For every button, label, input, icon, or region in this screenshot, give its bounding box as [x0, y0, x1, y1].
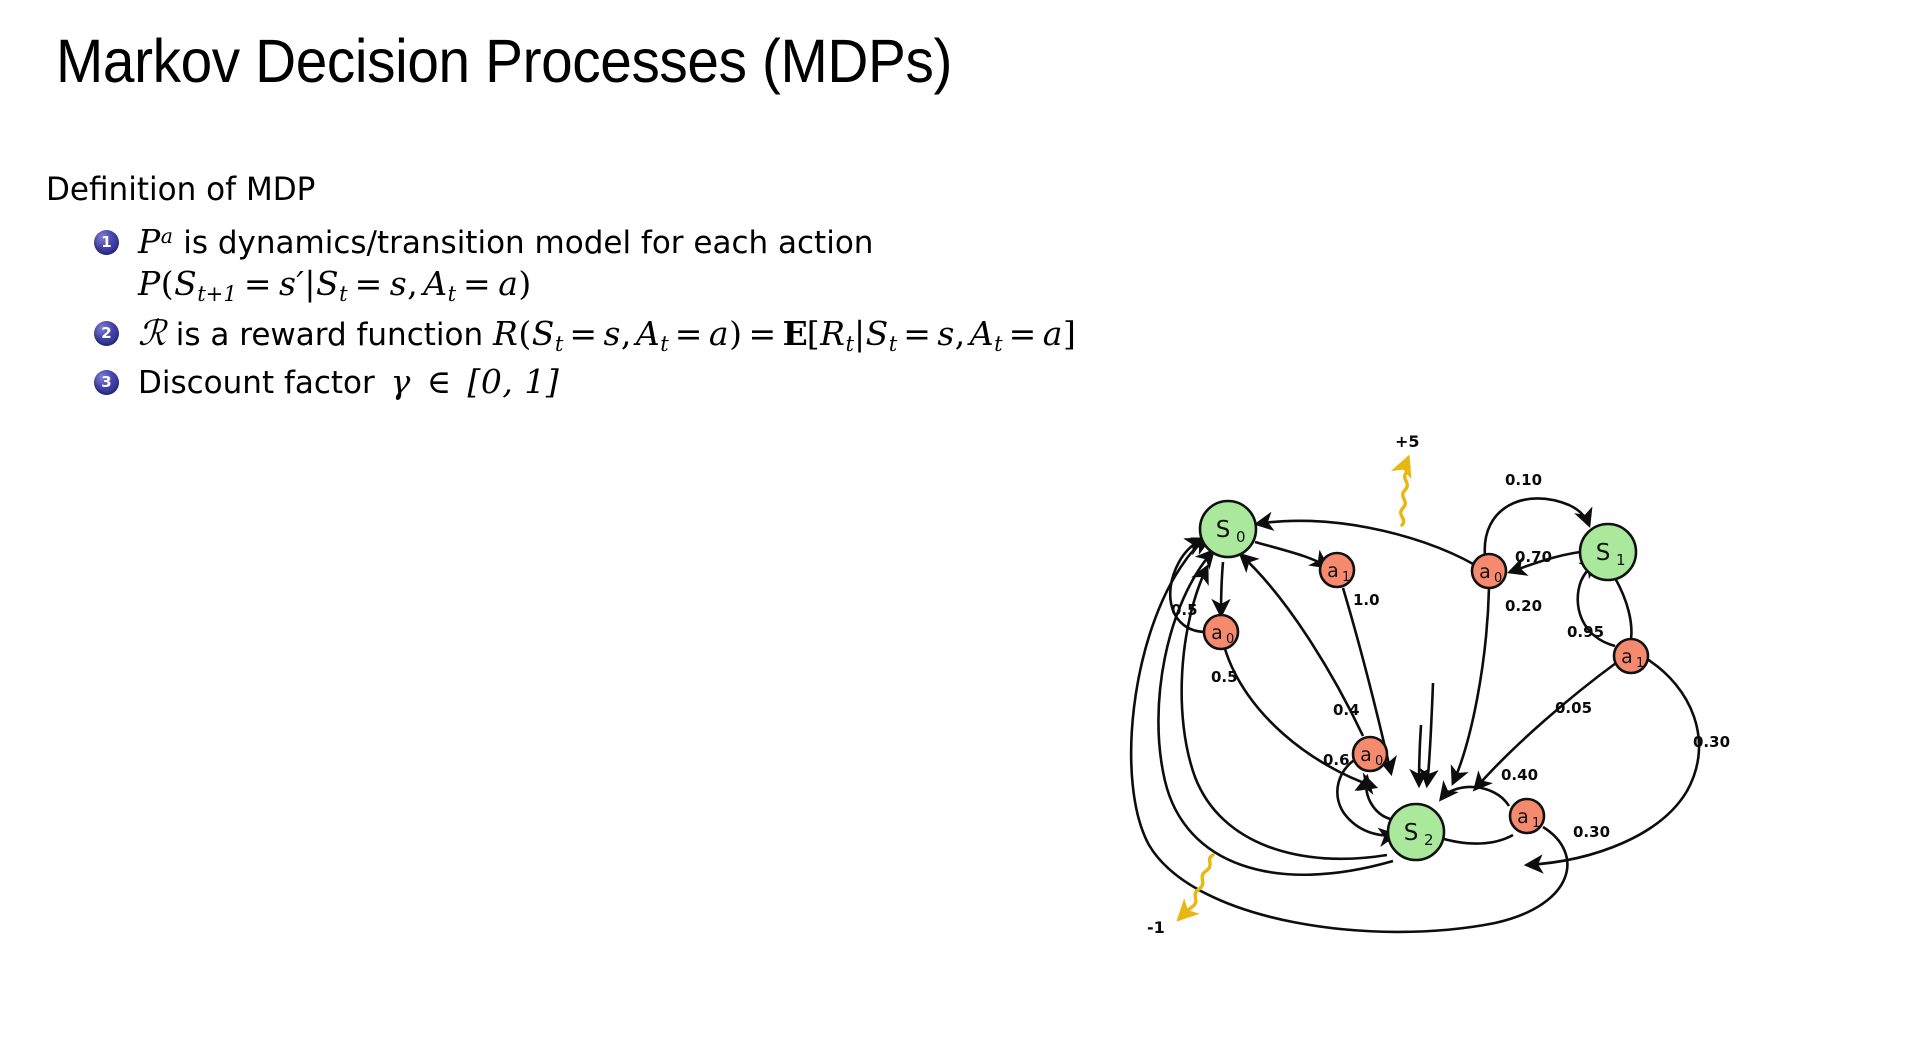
edge-s1a0-to-s2-p020: [1453, 588, 1489, 783]
f-A: A: [423, 264, 447, 303]
f-P: P: [138, 264, 161, 303]
prob-label-s1a1-out: 0.30: [1693, 733, 1730, 751]
action-node-s2-a1-subscript: 1: [1532, 816, 1540, 831]
action-node-s0-a1-subscript: 1: [1342, 570, 1350, 585]
page-title: Markov Decision Processes (MDPs): [56, 26, 952, 96]
action-node-s0-a1[interactable]: a 1: [1320, 553, 1354, 587]
edge-converge-s2-1: [1419, 725, 1421, 785]
action-node-s2-a0[interactable]: a 0: [1353, 737, 1387, 771]
action-node-s1-a1-subscript: 1: [1636, 656, 1644, 671]
f2-paren-close: ): [729, 314, 742, 353]
action-node-s0-a0-subscript: 0: [1226, 632, 1234, 647]
item-2-text: is a reward function: [176, 317, 483, 353]
prob-label-s1a1-s2: 0.05: [1555, 699, 1592, 717]
f2-Rt: R: [820, 314, 845, 353]
state-node-s1-subscript: 1: [1616, 551, 1626, 569]
prob-label-s0a0-s2: 0.5: [1211, 668, 1238, 686]
prob-label-s1a0-s0: 0.70: [1515, 548, 1552, 566]
state-node-s2[interactable]: S 2: [1388, 804, 1444, 860]
f-a: a: [498, 264, 518, 303]
f2-equals-3: =: [903, 314, 931, 353]
action-node-s1-a0-label: a: [1479, 561, 1491, 583]
symbol-P: P: [138, 222, 161, 261]
prob-label-s2a0-s0: 0.4: [1333, 701, 1360, 719]
f-conditional-bar: |: [304, 264, 316, 303]
f2-A-subscript: t: [660, 331, 668, 356]
state-node-s1[interactable]: S 1: [1580, 524, 1636, 580]
f-S2-subscript: t: [339, 281, 347, 306]
state-node-s0-subscript: 0: [1236, 528, 1246, 546]
f2-expectation: E: [783, 314, 807, 353]
definition-heading: Definition of MDP: [46, 172, 1482, 207]
f2-A: A: [636, 314, 660, 353]
action-node-s0-a0[interactable]: a 0: [1204, 615, 1238, 649]
prob-label-s1a0-s2: 0.20: [1505, 597, 1542, 615]
state-node-s1-label: S: [1596, 540, 1611, 566]
f2-S: S: [532, 314, 555, 353]
f2-equals-main: =: [748, 314, 776, 353]
f2-conditional-bar: |: [854, 314, 866, 353]
prob-label-s1a1-s1: 0.95: [1567, 623, 1604, 641]
f2-bracket-close: ]: [1063, 314, 1076, 353]
f-paren-open: (: [161, 264, 174, 303]
definition-list: 1 Pa is dynamics/transition model for ea…: [46, 221, 1526, 403]
f2-a: a: [709, 314, 729, 353]
f2-a2: a: [1043, 314, 1063, 353]
item-1-formula: P(St+1=s′|St=s,At=a): [138, 263, 1526, 308]
edge-s2-to-s2a0: [1366, 777, 1395, 820]
f2-equals-1: =: [569, 314, 597, 353]
prob-label-s2a1-s2: 0.40: [1501, 766, 1538, 784]
bullet-number-1: 1: [94, 230, 119, 255]
symbol-gamma: γ: [391, 362, 411, 401]
f-equals-3: =: [463, 264, 491, 303]
action-node-s2-a0-label: a: [1360, 744, 1372, 766]
bullet-number-3: 3: [94, 370, 119, 395]
action-node-s0-a0-label: a: [1211, 622, 1223, 644]
item-3-text: Discount factor: [138, 365, 375, 401]
prob-label-s1a0-s1: 0.10: [1505, 471, 1542, 489]
definition-block: Definition of MDP 1 Pa is dynamics/trans…: [46, 172, 1526, 407]
state-node-s0[interactable]: S 0: [1200, 501, 1256, 557]
action-node-s2-a1-label: a: [1517, 806, 1529, 828]
f2-s: s: [603, 314, 620, 353]
edge-s2-to-s2a1: [1437, 835, 1513, 844]
list-item: 1 Pa is dynamics/transition model for ea…: [94, 221, 1526, 308]
f2-s2: s: [937, 314, 954, 353]
edge-s1-to-s1a1: [1615, 578, 1631, 639]
edge-s1a1-to-s2-p005: [1475, 663, 1616, 789]
item-1-text: is dynamics/transition model for each ac…: [183, 225, 873, 261]
f2-bracket-open: [: [807, 314, 820, 353]
f2-S2-subscript: t: [889, 331, 897, 356]
state-node-s0-label: S: [1216, 517, 1231, 543]
item-2-line-1: ℛ is a reward function R(St=s,At=a)=E[Rt…: [138, 312, 1526, 358]
action-node-s1-a1-label: a: [1621, 646, 1633, 668]
f2-equals-4: =: [1009, 314, 1037, 353]
edge-s0-to-s0a1: [1255, 542, 1327, 567]
gamma-interval: [0, 1]: [468, 362, 560, 401]
f-S: S: [174, 264, 197, 303]
reward-wire-plus5: [1401, 458, 1409, 525]
edge-s0-to-s0a0: [1221, 562, 1223, 615]
list-item: 3 Discount factor γ ∈ [0, 1]: [94, 361, 1526, 403]
f-A-subscript: t: [448, 281, 456, 306]
bullet-number-2: 2: [94, 321, 119, 346]
symbol-P-superscript: a: [161, 224, 174, 248]
prob-label-s2a1-s0: 0.30: [1573, 823, 1610, 841]
list-item: 2 ℛ is a reward function R(St=s,At=a)=E[…: [94, 312, 1526, 358]
edge-s2a1-to-s2-p040: [1441, 787, 1509, 806]
f-comma: ,: [407, 264, 418, 303]
f2-S-subscript: t: [555, 331, 563, 356]
prob-label-s2a0-s2: 0.6: [1323, 751, 1350, 769]
reward-label-plus5: +5: [1395, 432, 1420, 451]
graph-nodes: S 0 S 1 S 2 a 0 a 1 a: [1200, 501, 1648, 860]
f-S2: S: [316, 264, 339, 303]
item-1-line-1: Pa is dynamics/transition model for each…: [138, 221, 1526, 263]
state-node-s2-label: S: [1404, 820, 1419, 846]
mdp-transition-graph: S 0 S 1 S 2 a 0 a 1 a: [1075, 425, 1895, 1035]
state-node-s2-subscript: 2: [1424, 831, 1434, 849]
action-node-s1-a0[interactable]: a 0: [1472, 554, 1506, 588]
prob-label-s0a1-s2: 1.0: [1353, 591, 1380, 609]
prob-label-s0a0-self: 0.5: [1171, 601, 1198, 619]
f2-A2: A: [970, 314, 994, 353]
action-node-s2-a0-subscript: 0: [1375, 754, 1383, 769]
f-equals-1: =: [244, 264, 272, 303]
f2-equals-2: =: [675, 314, 703, 353]
f-S-subscript: t+1: [197, 281, 237, 306]
edge-converge-s2-2: [1427, 683, 1433, 785]
f2-S2: S: [866, 314, 889, 353]
f2-R: R: [493, 314, 518, 353]
symbol-script-R: ℛ: [138, 314, 166, 354]
f2-A2-subscript: t: [994, 331, 1002, 356]
edge-s1a0-to-s0-p070: [1257, 521, 1475, 565]
f-s: s: [390, 264, 407, 303]
f2-comma: ,: [621, 314, 632, 353]
action-node-s1-a0-subscript: 0: [1494, 571, 1502, 586]
f-equals-2: =: [355, 264, 383, 303]
action-node-s2-a1[interactable]: a 1: [1510, 799, 1544, 833]
f-paren-close: ): [518, 264, 531, 303]
f2-paren-open: (: [518, 314, 531, 353]
item-3-line-1: Discount factor γ ∈ [0, 1]: [138, 361, 1526, 403]
edge-s2a1-to-s0-p030: [1131, 539, 1567, 932]
reward-label-minus1: -1: [1147, 918, 1165, 937]
f2-Rt-subscript: t: [846, 331, 854, 356]
action-node-s1-a1[interactable]: a 1: [1614, 639, 1648, 673]
reward-labels: +5 -1: [1147, 432, 1420, 937]
action-node-s0-a1-label: a: [1327, 560, 1339, 582]
f-s-prime: s′: [279, 264, 304, 303]
f2-comma-2: ,: [955, 314, 966, 353]
symbol-element-of: ∈: [427, 362, 452, 401]
